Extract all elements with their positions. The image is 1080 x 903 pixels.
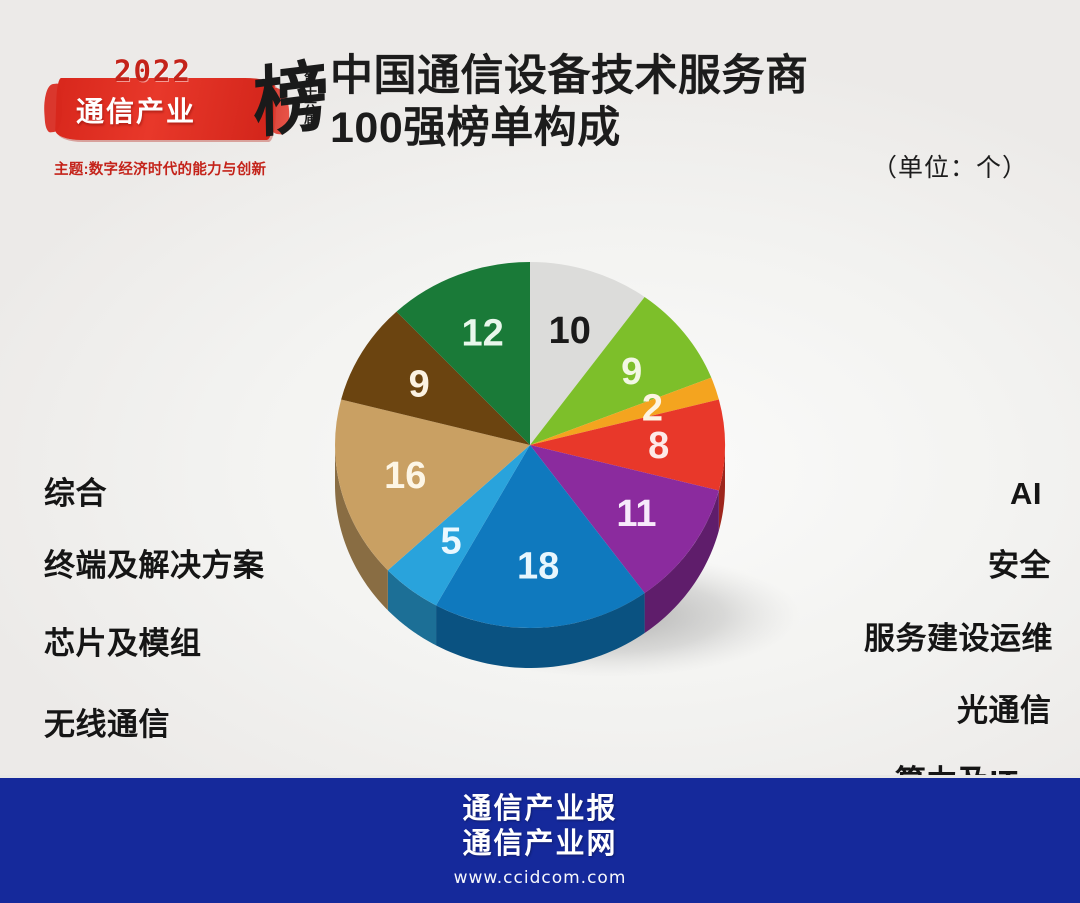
pie-chart: 109281118516912 AI安全服务建设运维光通信算力及IT综合终端及解…	[0, 205, 1080, 775]
logo-session-text: 第十六届	[296, 72, 316, 144]
pie-value-无线通信: 16	[384, 455, 426, 497]
callout-label-综合[interactable]: 综合	[44, 478, 107, 509]
callout-label-无线通信[interactable]: 无线通信	[44, 709, 170, 740]
pie-value-芯片及模组: 9	[409, 364, 430, 406]
event-logo: 2022 通信产业 榜 第十六届 主题:数字经济时代的能力与创新	[48, 48, 306, 180]
page-title: 中国通信设备技术服务商 100强榜单构成	[330, 50, 990, 155]
pie-value-光通信: 11	[616, 493, 656, 535]
pie-value-AI: 9	[621, 351, 642, 393]
logo-subtitle: 主题:数字经济时代的能力与创新	[54, 158, 266, 179]
unit-note: （单位：个）	[872, 148, 1028, 184]
footer-site-name: 通信产业网	[0, 827, 1080, 862]
header: 2022 通信产业 榜 第十六届 主题:数字经济时代的能力与创新 中国通信设备技…	[0, 0, 1080, 210]
page-title-line1: 中国通信设备技术服务商	[330, 52, 809, 100]
logo-bang-character: 榜	[253, 57, 330, 143]
callout-label-安全[interactable]: 安全	[988, 550, 1051, 581]
pie-chart-svg: 109281118516912	[280, 215, 800, 715]
pie-value-算力及IT: 18	[517, 546, 559, 588]
logo-main-text: 通信产业	[76, 90, 196, 130]
pie-value-通信测试: 5	[441, 520, 462, 562]
logo-year: 2022	[114, 54, 192, 88]
poster-canvas: 2022 通信产业 榜 第十六届 主题:数字经济时代的能力与创新 中国通信设备技…	[0, 0, 1080, 900]
footer-band: 通信产业报 通信产业网 www.ccidcom.com	[0, 775, 1080, 903]
pie-value-终端及解决方案: 12	[461, 313, 503, 355]
callout-label-AI[interactable]: AI	[1010, 478, 1042, 509]
footer-publication-name: 通信产业报	[0, 792, 1080, 827]
pie-value-安全: 2	[642, 388, 663, 430]
footer-url[interactable]: www.ccidcom.com	[0, 868, 1080, 888]
footer-content: 通信产业报 通信产业网 www.ccidcom.com	[0, 792, 1080, 888]
callout-label-芯片及模组[interactable]: 芯片及模组	[44, 628, 202, 659]
pie-value-综合: 10	[549, 310, 591, 352]
callout-label-终端及解决方案[interactable]: 终端及解决方案	[44, 550, 265, 581]
callout-label-服务建设运维[interactable]: 服务建设运维	[864, 623, 1053, 654]
callout-label-光通信[interactable]: 光通信	[957, 695, 1052, 726]
pie-value-服务建设运维: 8	[648, 425, 669, 467]
